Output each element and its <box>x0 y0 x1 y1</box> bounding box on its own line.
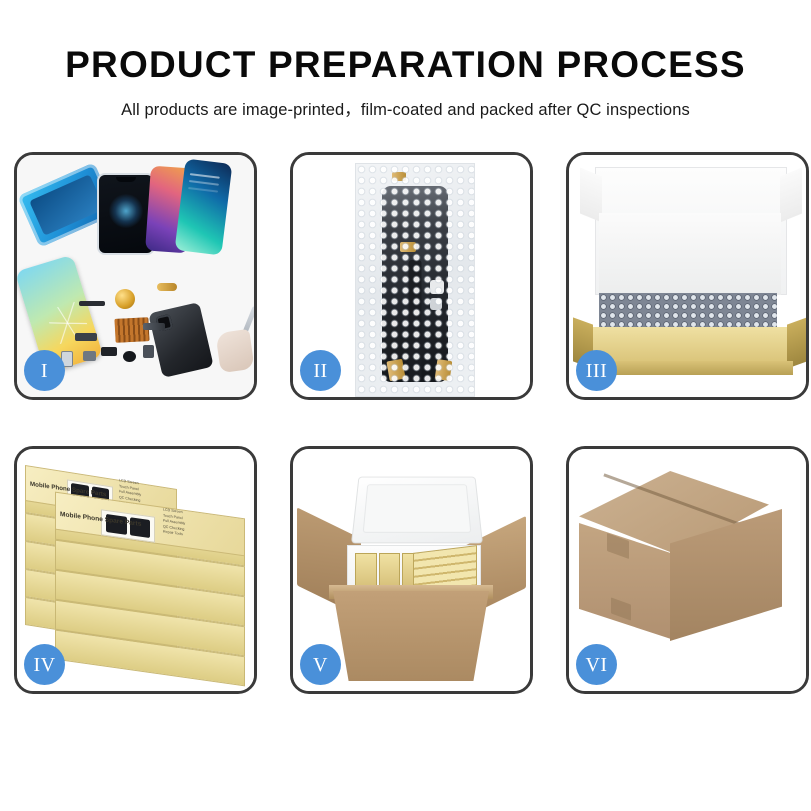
step-card-3: III <box>566 152 809 400</box>
box-spec-text: LCD Screen Touch Panel Full Assembly QC … <box>163 507 185 538</box>
small-part <box>79 301 105 306</box>
step-card-2: II <box>290 152 533 400</box>
foam-box-lid <box>351 477 483 544</box>
tape-strip <box>400 242 416 252</box>
small-part <box>143 345 154 358</box>
step-card-5: V <box>290 446 533 694</box>
step-badge-1: I <box>24 350 65 391</box>
step-badge-3: III <box>576 350 617 391</box>
flex-cable-part <box>143 323 165 330</box>
white-foam-sheet <box>599 213 781 295</box>
teal-gradient-phone <box>175 158 233 255</box>
step-card-6: VI <box>566 446 809 694</box>
tape-strip <box>386 359 405 381</box>
small-part <box>83 351 96 361</box>
connector <box>430 280 444 294</box>
chip-grid-part <box>114 317 149 343</box>
step-badge-6: VI <box>576 644 617 685</box>
step-card-1: I <box>14 152 257 400</box>
step-card-4: Mobile Phone Spare Parts LCD Screen Touc… <box>14 446 257 694</box>
small-part <box>101 347 117 356</box>
phone-rear-housing <box>148 302 214 378</box>
tape-strip <box>435 359 453 381</box>
step-badge-2: II <box>300 350 341 391</box>
wrapped-screen-assembly <box>382 186 448 382</box>
small-part <box>75 333 97 341</box>
grey-bubble-wrap-layer <box>599 293 777 331</box>
process-steps-grid: I II <box>14 152 797 742</box>
page-subtitle: All products are image-printed，film-coat… <box>0 96 811 120</box>
product-preparation-infographic: PRODUCT PREPARATION PROCESS All products… <box>0 0 811 811</box>
gold-box-front-edge <box>587 361 793 375</box>
connector <box>430 298 442 310</box>
page-title: PRODUCT PREPARATION PROCESS <box>0 46 811 85</box>
step-badge-5: V <box>300 644 341 685</box>
flex-cable-part <box>157 283 177 291</box>
carton-body <box>333 591 489 681</box>
flex-cable <box>409 260 422 382</box>
tape-strip <box>392 172 406 181</box>
gold-box-stack: Mobile Phone Spare Parts LCD Screen Touc… <box>23 463 251 679</box>
bubble-wrap-bag <box>355 163 475 397</box>
hand <box>215 329 254 373</box>
small-part <box>123 351 136 362</box>
header: PRODUCT PREPARATION PROCESS All products… <box>0 0 811 120</box>
gold-coil-part <box>115 289 135 309</box>
step-badge-4: IV <box>24 644 65 685</box>
